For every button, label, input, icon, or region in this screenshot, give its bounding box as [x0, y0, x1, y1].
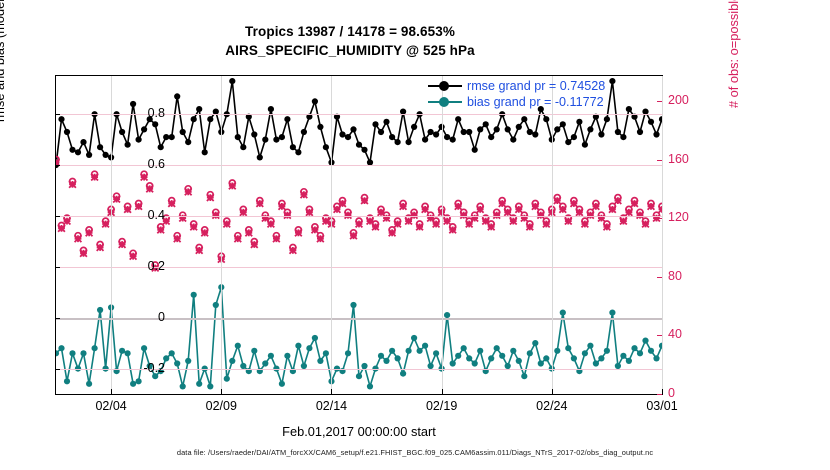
x-axis-label: Feb.01,2017 00:00:00 start: [55, 424, 663, 439]
y-axis-left-label: rmse and bias (model - observation): [0, 0, 7, 122]
y-axis-left-tick-mark: [55, 114, 60, 115]
x-axis-tick-mark: [111, 389, 112, 394]
x-axis-tick-label: 03/01: [630, 399, 694, 413]
y-axis-right-tick-label: 120: [668, 210, 708, 224]
legend-marker-rmse-icon: [428, 85, 462, 87]
x-axis-tick-mark: [221, 389, 222, 394]
y-axis-right-tick-mark: [657, 277, 662, 278]
x-axis-tick-mark: [331, 389, 332, 394]
y-axis-right-label: # of obs: o=possible; x=evaluated: [726, 0, 741, 108]
y-axis-left-tick-mark: [55, 369, 60, 370]
gridline-vertical: [662, 76, 663, 394]
plot-area: [55, 75, 663, 395]
gridline-vertical: [111, 76, 112, 394]
x-axis-tick-mark: [662, 389, 663, 394]
chart-title: Tropics 13987 / 14178 = 98.653% AIRS_SPE…: [0, 22, 700, 60]
y-axis-right-tick-label: 160: [668, 152, 708, 166]
x-axis-tick-mark: [552, 389, 553, 394]
legend-entry-bias: bias grand pr = -0.11772: [428, 94, 605, 110]
y-axis-right-tick-mark: [657, 218, 662, 219]
y-axis-right-tick-mark: [657, 394, 662, 395]
x-axis-tick-label: 02/09: [189, 399, 253, 413]
data-file-caption: data file: /Users/raeder/DAI/ATM_forcXX/…: [0, 448, 830, 457]
y-axis-left-tick-mark: [55, 216, 60, 217]
y-axis-right-tick-label: 200: [668, 93, 708, 107]
y-axis-right-tick-label: 80: [668, 269, 708, 283]
y-axis-right-tick-mark: [657, 335, 662, 336]
gridline-vertical: [552, 76, 553, 394]
data-series-layer: [56, 76, 662, 394]
y-axis-left-tick-mark: [55, 318, 60, 319]
gridline-vertical: [221, 76, 222, 394]
gridline-vertical: [331, 76, 332, 394]
y-axis-left-tick-label: -0.2: [119, 361, 165, 375]
y-axis-right-tick-mark: [657, 160, 662, 161]
y-axis-right-tick-label: 40: [668, 327, 708, 341]
x-axis-tick-mark: [442, 389, 443, 394]
y-axis-left-tick-label: 0.8: [119, 106, 165, 120]
legend-label-rmse: rmse grand pr = 0.74528: [467, 79, 605, 93]
legend-marker-bias-icon: [428, 101, 462, 103]
y-axis-left-tick-label: 0.6: [119, 157, 165, 171]
y-axis-left-tick-label: 0.2: [119, 259, 165, 273]
legend-label-bias: bias grand pr = -0.11772: [467, 95, 604, 109]
y-axis-left-tick-label: 0.4: [119, 208, 165, 222]
title-line-1: Tropics 13987 / 14178 = 98.653%: [0, 22, 700, 41]
legend: rmse grand pr = 0.74528 bias grand pr = …: [428, 78, 605, 110]
y-axis-right-tick-mark: [657, 101, 662, 102]
title-line-2: AIRS_SPECIFIC_HUMIDITY @ 525 hPa: [0, 41, 700, 60]
x-axis-tick-label: 02/24: [520, 399, 584, 413]
x-axis-tick-label: 02/19: [410, 399, 474, 413]
y-axis-left-tick-mark: [55, 267, 60, 268]
y-axis-left-tick-label: 0: [119, 310, 165, 324]
gridline-vertical: [442, 76, 443, 394]
legend-entry-rmse: rmse grand pr = 0.74528: [428, 78, 605, 94]
figure-canvas: Tropics 13987 / 14178 = 98.653% AIRS_SPE…: [0, 0, 830, 470]
y-axis-right-tick-label: 0: [668, 386, 708, 400]
x-axis-tick-label: 02/04: [79, 399, 143, 413]
y-axis-left-tick-mark: [55, 165, 60, 166]
x-axis-tick-label: 02/14: [299, 399, 363, 413]
